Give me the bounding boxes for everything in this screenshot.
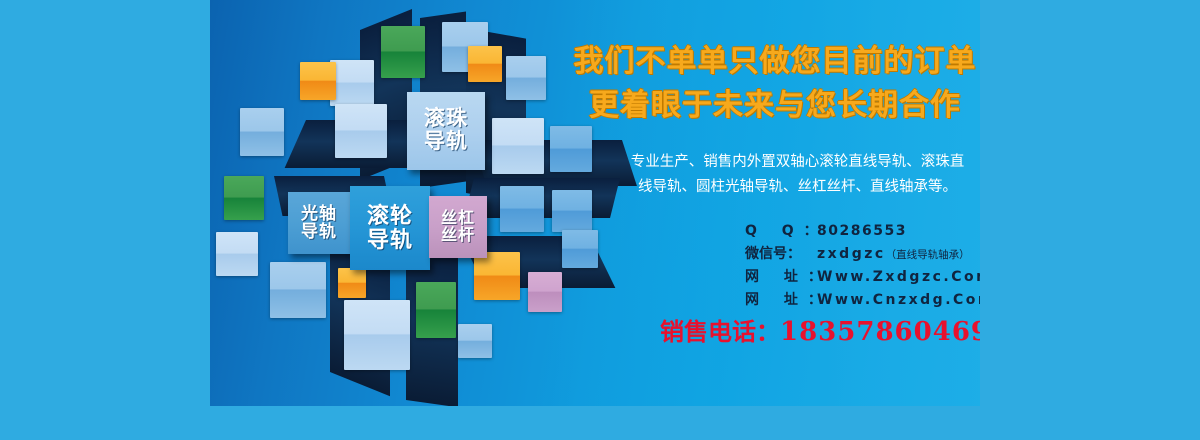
product-box-line2: 导轨 xyxy=(301,223,337,241)
contact-value-wechat[interactable]: zxdgzc xyxy=(817,246,886,262)
contact-block: Q Q： 80286553 微信号： zxdgzc （直线导轨轴承） 网 址： … xyxy=(745,220,980,312)
product-box-line1: 滚轮 xyxy=(367,204,413,228)
contact-row-website-2: 网 址： Www.Cnzxdg.Com xyxy=(745,289,980,312)
sales-phone-number[interactable]: 18357860469 xyxy=(780,317,980,347)
contact-row-qq: Q Q： 80286553 xyxy=(745,220,980,243)
contact-label-qq: Q Q： xyxy=(745,220,817,240)
contact-label-website-2: 网 址： xyxy=(745,289,817,309)
product-box-line2: 导轨 xyxy=(367,228,413,252)
sales-phone[interactable]: 销售电话：18357860469 xyxy=(660,312,980,347)
contact-row-wechat: 微信号： zxdgzc （直线导轨轴承） xyxy=(745,243,980,266)
contact-value-website-1[interactable]: Www.Zxdgzc.Com xyxy=(817,269,980,285)
sales-phone-label: 销售电话： xyxy=(660,318,780,346)
banner-panel: 滚珠 导轨 光轴 导轨 滚轮 导轨 丝杠 丝杆 我们不单单只做您目前的订单 更着… xyxy=(210,0,980,406)
headline-line-1: 我们不单单只做您目前的订单 xyxy=(555,40,980,84)
headline-line-2: 更着眼于未来与您长期合作 xyxy=(555,84,980,128)
headline: 我们不单单只做您目前的订单 更着眼于未来与您长期合作 xyxy=(555,40,980,127)
contact-value-qq[interactable]: 80286553 xyxy=(817,223,907,239)
product-box-line1: 丝杠 xyxy=(441,210,475,227)
product-box-line1: 光轴 xyxy=(301,205,337,223)
product-box-line2: 丝杆 xyxy=(441,227,475,244)
promotional-banner: 滚珠 导轨 光轴 导轨 滚轮 导轨 丝杠 丝杆 我们不单单只做您目前的订单 更着… xyxy=(0,0,1200,440)
product-box-gunzhu-daogui[interactable]: 滚珠 导轨 xyxy=(407,92,485,170)
contact-label-wechat: 微信号： xyxy=(745,243,817,263)
contact-label-website-1: 网 址： xyxy=(745,266,817,286)
product-box-sigang-sigan[interactable]: 丝杠 丝杆 xyxy=(429,196,487,258)
contact-note-wechat: （直线导轨轴承） xyxy=(886,247,970,262)
product-box-guangzhou-daogui[interactable]: 光轴 导轨 xyxy=(288,192,350,254)
description-text: 专业生产、销售内外置双轴心滚轮直线导轨、滚珠直线导轨、圆柱光轴导轨、丝杠丝杆、直… xyxy=(625,150,970,200)
product-box-line1: 滚珠 xyxy=(424,108,468,131)
contact-value-website-2[interactable]: Www.Cnzxdg.Com xyxy=(817,292,980,308)
product-box-line2: 导轨 xyxy=(424,131,468,154)
product-box-gunlun-daogui[interactable]: 滚轮 导轨 xyxy=(350,186,430,270)
contact-row-website-1: 网 址： Www.Zxdgzc.Com xyxy=(745,266,980,289)
